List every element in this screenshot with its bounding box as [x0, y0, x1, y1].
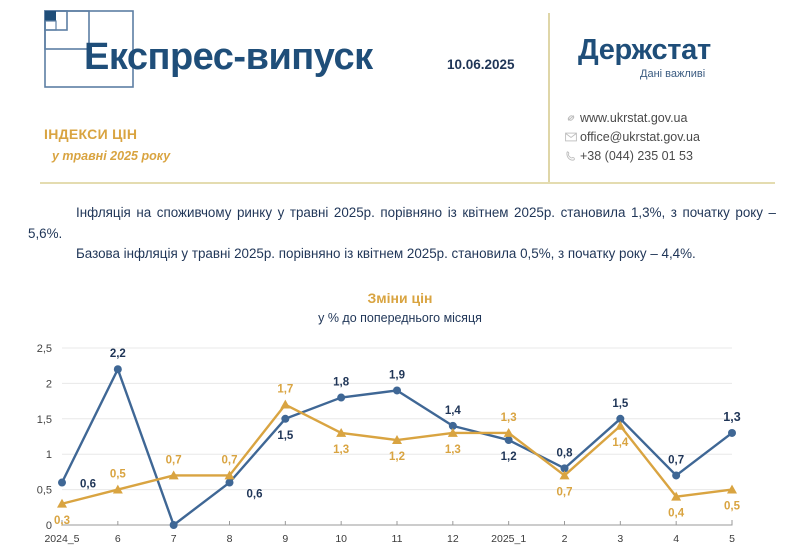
contact-phone[interactable]: +38 (044) 235 01 53 [562, 146, 700, 165]
chart-subtitle: у % до попереднього місяця [0, 311, 800, 325]
data-point-label: 1,5 [277, 430, 294, 442]
data-point-label: 1,3 [501, 412, 517, 424]
section-subtitle: у травні 2025 року [52, 149, 170, 163]
organization-slogan: Дані важливі [640, 68, 705, 80]
x-axis-tick-label: 9 [282, 533, 288, 545]
section-title: ІНДЕКСИ ЦІН [44, 126, 137, 142]
data-point-marker [280, 400, 290, 409]
x-axis-tick-label: 2024_5 [44, 533, 79, 545]
paragraph-inflation: Інфляція на споживчому ринку у травні 20… [28, 203, 776, 244]
data-point-marker [170, 521, 178, 529]
body-text: Інфляція на споживчому ринку у травні 20… [28, 203, 776, 265]
paragraph-core-inflation: Базова інфляція у травні 2025р. порівнян… [28, 244, 776, 265]
data-point-label: 0,5 [724, 501, 741, 513]
y-axis-tick-label: 1 [46, 449, 52, 461]
chart-title: Зміни цін [0, 290, 800, 306]
x-axis-tick-label: 4 [673, 533, 679, 545]
data-point-label: 0,5 [110, 469, 127, 481]
data-point-marker [393, 386, 401, 394]
contact-list: www.ukrstat.gov.ua office@ukrstat.gov.ua… [562, 108, 700, 165]
data-point-label: 1,8 [333, 377, 350, 389]
data-point-marker [226, 479, 234, 487]
data-point-label: 0,7 [668, 454, 684, 466]
data-point-label: 0,4 [668, 508, 685, 520]
x-axis-tick-label: 5 [729, 533, 735, 545]
chart-svg: 00,511,522,52024_567891011122025_123450,… [0, 336, 800, 548]
data-point-marker [114, 365, 122, 373]
express-release-page: Експрес-випуск 10.06.2025 Держстат Дані … [0, 0, 800, 548]
data-point-label: 0,6 [247, 489, 263, 501]
data-point-label: 1,7 [277, 384, 293, 396]
x-axis-tick-label: 10 [335, 533, 347, 545]
data-point-label: 0,7 [166, 454, 182, 466]
y-axis-tick-label: 0 [46, 520, 52, 532]
data-point-marker [337, 394, 345, 402]
data-point-label: 2,2 [110, 348, 126, 360]
data-point-label: 0,6 [80, 479, 96, 491]
contact-website-text: www.ukrstat.gov.ua [580, 111, 687, 125]
y-axis-tick-label: 2 [46, 378, 52, 390]
x-axis-tick-label: 2 [562, 533, 568, 545]
x-axis-tick-label: 12 [447, 533, 459, 545]
data-point-label: 0,7 [222, 454, 238, 466]
data-point-label: 1,4 [445, 405, 462, 417]
contact-phone-text: +38 (044) 235 01 53 [580, 149, 693, 163]
x-axis-tick-label: 8 [227, 533, 233, 545]
brand-title: Експрес-випуск [84, 36, 373, 79]
data-point-label: 1,4 [612, 437, 629, 449]
y-axis-tick-label: 2,5 [37, 343, 52, 355]
data-point-marker [672, 471, 680, 479]
x-axis-tick-label: 2025_1 [491, 533, 526, 545]
data-point-label: 0,7 [557, 486, 573, 498]
data-point-label: 1,2 [501, 451, 517, 463]
data-point-marker [728, 429, 736, 437]
data-point-label: 1,9 [389, 369, 405, 381]
data-point-marker [281, 415, 289, 423]
header-vertical-divider [548, 13, 550, 182]
data-point-label: 1,3 [333, 444, 349, 456]
contact-email[interactable]: office@ukrstat.gov.ua [562, 127, 700, 146]
data-point-label: 0,8 [557, 447, 574, 459]
y-axis-tick-label: 1,5 [37, 414, 52, 426]
x-axis-tick-label: 7 [171, 533, 177, 545]
data-point-label: 1,3 [723, 410, 740, 424]
issue-date: 10.06.2025 [447, 57, 515, 72]
price-change-chart: 00,511,522,52024_567891011122025_123450,… [0, 336, 800, 548]
contact-email-text: office@ukrstat.gov.ua [580, 130, 700, 144]
contact-website[interactable]: www.ukrstat.gov.ua [562, 108, 700, 127]
data-point-label: 1,2 [389, 451, 405, 463]
link-icon [562, 112, 580, 124]
data-point-label: 1,5 [612, 398, 629, 410]
organization-name: Держстат [578, 34, 711, 67]
phone-icon [562, 150, 580, 162]
envelope-icon [562, 132, 580, 142]
data-point-marker [58, 479, 66, 487]
x-axis-tick-label: 3 [617, 533, 623, 545]
x-axis-tick-label: 11 [392, 533, 403, 545]
y-axis-tick-label: 0,5 [37, 485, 52, 497]
data-point-marker [505, 436, 513, 444]
data-point-label: 0,3 [54, 515, 70, 527]
header-horizontal-divider [40, 182, 775, 184]
x-axis-tick-label: 6 [115, 533, 121, 545]
data-point-label: 1,3 [445, 444, 461, 456]
